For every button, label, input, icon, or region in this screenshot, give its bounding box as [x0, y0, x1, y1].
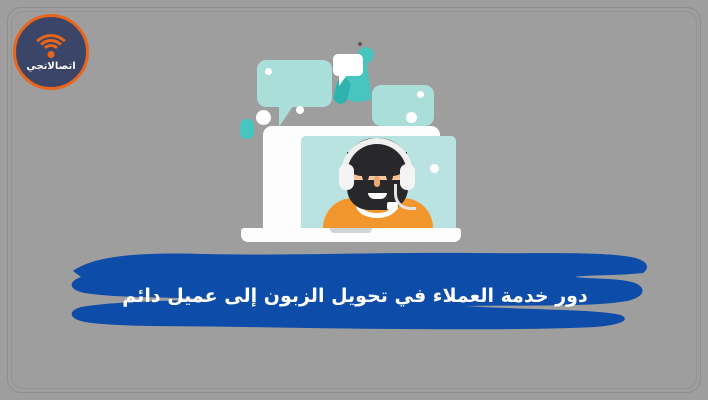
speech-bubble-white: [333, 54, 363, 76]
speech-bubble-right: [372, 85, 434, 126]
page-root: اتصالاتجي: [0, 0, 708, 400]
decor-dot-6: [358, 42, 362, 46]
support-agent-avatar: [301, 136, 456, 229]
speech-bubble-left: [257, 60, 332, 107]
decor-dot-1: [256, 110, 271, 125]
decor-dot-2: [296, 106, 304, 114]
logo-inner: اتصالاتجي: [19, 20, 83, 84]
banner-title: دور خدمة العملاء في تحويل الزبون إلى عمي…: [55, 243, 655, 333]
laptop-screen: [301, 136, 456, 229]
decor-dot-3: [406, 112, 417, 123]
laptop: [236, 126, 466, 256]
title-banner: دور خدمة العملاء في تحويل الزبون إلى عمي…: [55, 243, 655, 333]
laptop-lid: [263, 126, 440, 229]
site-logo[interactable]: اتصالاتجي: [13, 14, 89, 90]
laptop-trackpad-notch: [330, 228, 372, 233]
wifi-icon: [31, 34, 71, 60]
illustration: [236, 34, 466, 256]
